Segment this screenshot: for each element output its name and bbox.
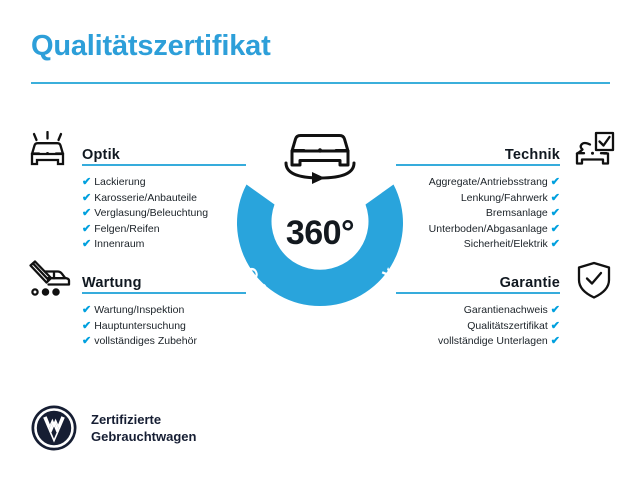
section-wartung-title: Wartung xyxy=(82,275,142,291)
section-technik-list: Aggregate/Antriebsstrang✔ Lenkung/Fahrwe… xyxy=(396,175,560,253)
check-icon: ✔ xyxy=(82,335,91,347)
list-item-label: Felgen/Reifen xyxy=(94,223,159,235)
footer-brand: Zertifizierte Gebrauchtwagen xyxy=(30,404,196,452)
check-icon: ✔ xyxy=(551,238,560,250)
list-item-label: Garantienachweis xyxy=(464,304,548,316)
check-icon: ✔ xyxy=(82,223,91,235)
list-item: ✔vollständiges Zubehör xyxy=(82,334,246,350)
list-item-label: Unterboden/Abgasanlage xyxy=(429,223,548,235)
list-item-label: Qualitätszertifikat xyxy=(467,320,548,332)
check-icon: ✔ xyxy=(551,304,560,316)
check-icon: ✔ xyxy=(551,176,560,188)
list-item: Sicherheit/Elektrik✔ xyxy=(396,237,560,253)
check-icon: ✔ xyxy=(551,192,560,204)
page-title: Qualitätszertifikat xyxy=(31,30,271,63)
footer-brand-text: Zertifizierte Gebrauchtwagen xyxy=(91,411,196,445)
shield-check-icon xyxy=(576,261,612,306)
check-icon: ✔ xyxy=(82,320,91,332)
list-item: Bremsanlage✔ xyxy=(396,206,560,222)
list-item-label: Lackierung xyxy=(94,176,145,188)
check-icon: ✔ xyxy=(551,207,560,219)
list-item: Qualitätszertifikat✔ xyxy=(396,319,560,335)
qualitaetszertifikat-page: Qualitätszertifikat Optik ✔Lackierung ✔K… xyxy=(0,0,640,480)
list-item-label: Innenraum xyxy=(94,238,144,250)
section-technik-divider xyxy=(396,164,560,166)
badge-center-label: 360° xyxy=(222,214,418,253)
check-icon: ✔ xyxy=(551,320,560,332)
gebrauchtwagen-check-badge: Gebrauchtwagen-Check 360° xyxy=(222,122,418,322)
section-technik-header: Technik xyxy=(396,140,560,166)
section-garantie-header: Garantie xyxy=(396,268,560,294)
list-item: Garantienachweis✔ xyxy=(396,303,560,319)
rotation-arrow-icon xyxy=(312,172,325,184)
list-item: Lenkung/Fahrwerk✔ xyxy=(396,191,560,207)
section-technik: Technik Aggregate/Antriebsstrang✔ Lenkun… xyxy=(396,140,560,253)
section-garantie: Garantie Garantienachweis✔ Qualitätszert… xyxy=(396,268,560,350)
section-optik-title: Optik xyxy=(82,147,120,163)
list-item: Unterboden/Abgasanlage✔ xyxy=(396,222,560,238)
section-garantie-title: Garantie xyxy=(500,275,560,291)
check-icon: ✔ xyxy=(551,335,560,347)
section-garantie-list: Garantienachweis✔ Qualitätszertifikat✔ v… xyxy=(396,303,560,350)
check-icon: ✔ xyxy=(82,304,91,316)
car-rotate-icon xyxy=(286,136,354,179)
service-book-car-icon xyxy=(24,259,72,304)
car-checkbox-icon xyxy=(570,131,616,176)
check-icon: ✔ xyxy=(82,176,91,188)
section-technik-title: Technik xyxy=(505,147,560,163)
list-item-label: Sicherheit/Elektrik xyxy=(464,238,548,250)
list-item-label: Verglasung/Beleuchtung xyxy=(94,207,208,219)
list-item-label: Aggregate/Antriebsstrang xyxy=(429,176,548,188)
list-item-label: Hauptuntersuchung xyxy=(94,320,186,332)
check-icon: ✔ xyxy=(82,207,91,219)
check-icon: ✔ xyxy=(551,223,560,235)
list-item: vollständige Unterlagen✔ xyxy=(396,334,560,350)
check-icon: ✔ xyxy=(82,192,91,204)
car-shine-icon xyxy=(26,131,70,176)
list-item-label: vollständige Unterlagen xyxy=(438,335,548,347)
list-item-label: Wartung/Inspektion xyxy=(94,304,184,316)
section-garantie-divider xyxy=(396,292,560,294)
list-item-label: Bremsanlage xyxy=(486,207,548,219)
list-item-label: vollständiges Zubehör xyxy=(94,335,197,347)
title-divider xyxy=(31,82,610,84)
list-item-label: Lenkung/Fahrwerk xyxy=(461,192,548,204)
list-item-label: Karosserie/Anbauteile xyxy=(94,192,197,204)
check-icon: ✔ xyxy=(82,238,91,250)
list-item: Aggregate/Antriebsstrang✔ xyxy=(396,175,560,191)
vw-logo xyxy=(30,404,78,452)
